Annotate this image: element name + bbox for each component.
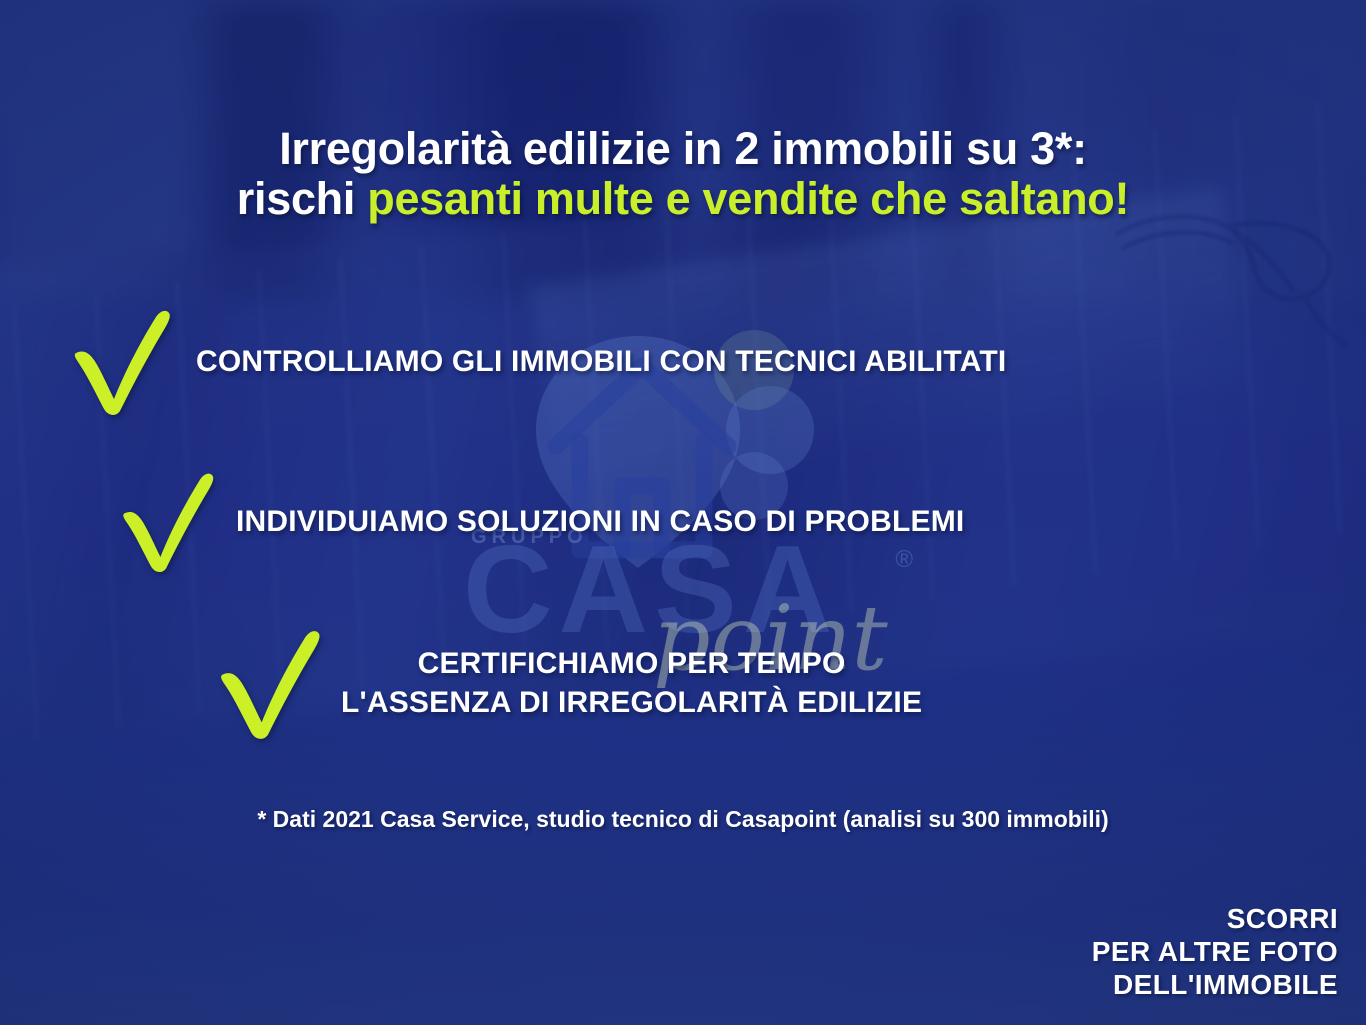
headline-line-2-prefix: rischi (237, 173, 367, 224)
headline-line-2: rischi pesanti multe e vendite che salta… (0, 174, 1366, 224)
poster-content: Irregolarità edilizie in 2 immobili su 3… (0, 0, 1366, 1025)
scroll-cta-line-3: DELL'IMMOBILE (1092, 968, 1338, 1001)
check-icon (118, 468, 218, 574)
scroll-cta-line-2: PER ALTRE FOTO (1092, 935, 1338, 968)
list-item: INDIVIDUIAMO SOLUZIONI IN CASO DI PROBLE… (118, 468, 964, 574)
list-item-label: CERTIFICHIAMO PER TEMPO L'ASSENZA DI IRR… (341, 644, 922, 722)
headline-line-1: Irregolarità edilizie in 2 immobili su 3… (0, 124, 1366, 174)
list-item-label: INDIVIDUIAMO SOLUZIONI IN CASO DI PROBLE… (236, 502, 964, 541)
headline-line-2-highlight: pesanti multe e vendite che saltano! (367, 173, 1129, 224)
list-item-label: CONTROLLIAMO GLI IMMOBILI CON TECNICI AB… (196, 342, 1006, 381)
list-item: CERTIFICHIAMO PER TEMPO L'ASSENZA DI IRR… (215, 625, 922, 741)
footnote-text: * Dati 2021 Casa Service, studio tecnico… (0, 806, 1366, 833)
scroll-cta: SCORRI PER ALTRE FOTO DELL'IMMOBILE (1092, 902, 1338, 1001)
check-icon (215, 625, 325, 741)
list-item: CONTROLLIAMO GLI IMMOBILI CON TECNICI AB… (70, 305, 1006, 417)
check-icon (70, 305, 174, 417)
page-title: Irregolarità edilizie in 2 immobili su 3… (0, 124, 1366, 225)
promo-poster: GRUPPO CASA ® point Irregolarità edilizi… (0, 0, 1366, 1025)
scroll-cta-line-1: SCORRI (1092, 902, 1338, 935)
